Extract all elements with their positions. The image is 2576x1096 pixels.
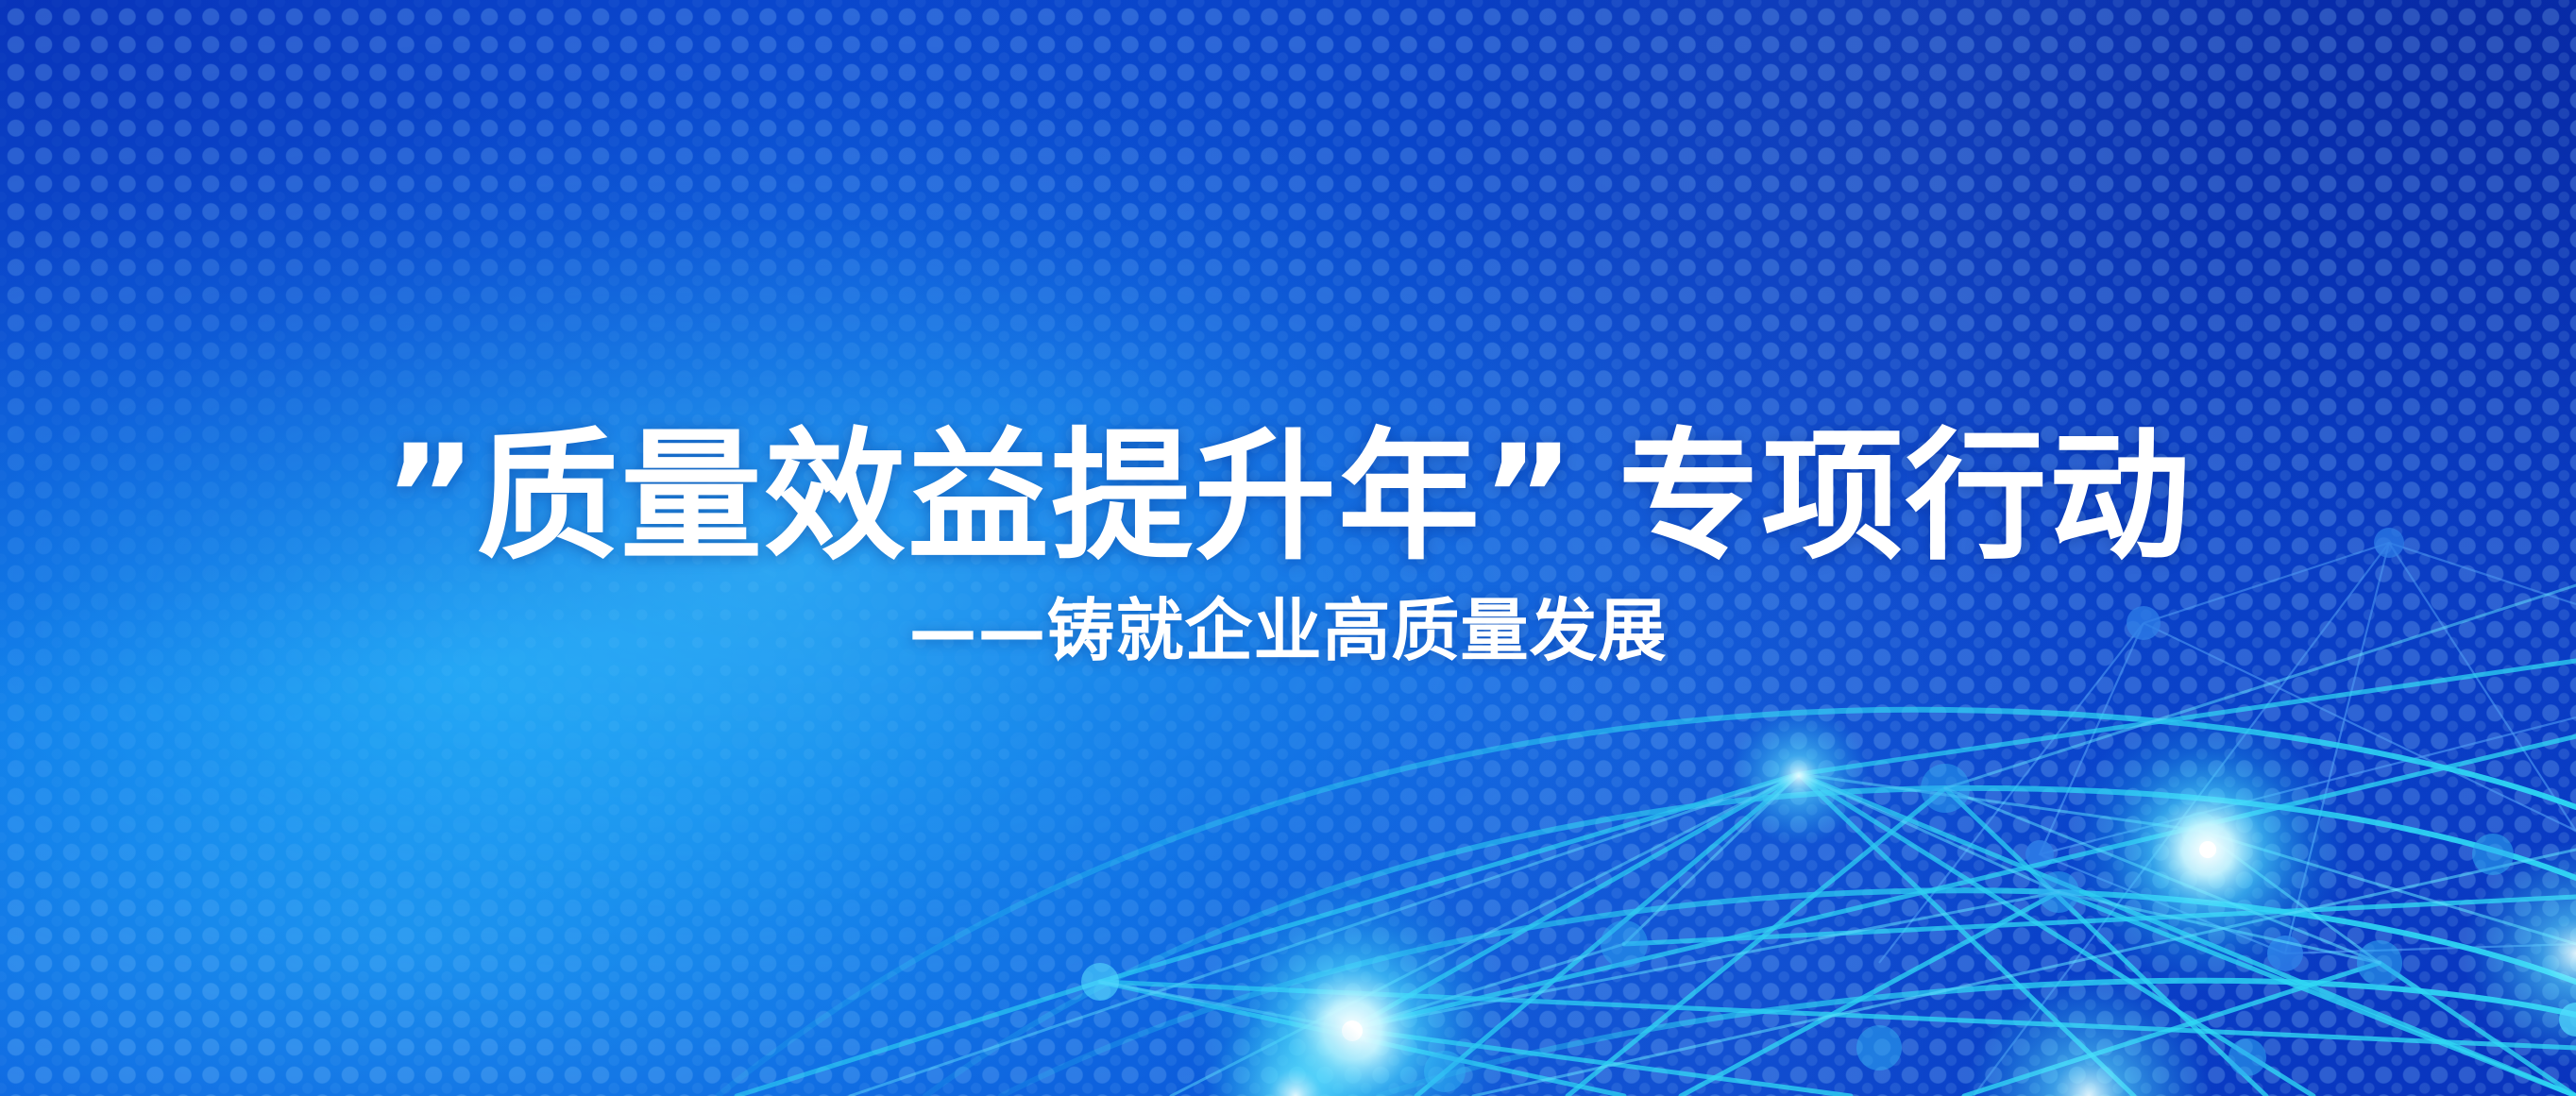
background-bottomright-shade <box>0 0 2576 1096</box>
background-topright-shade <box>0 0 2576 1096</box>
globe-mesh-lines <box>718 585 2576 1096</box>
network-node-flares <box>1192 706 2576 1096</box>
halftone-dot-grid-fine-icon <box>0 0 2576 1096</box>
lower-left-glow-icon <box>0 0 2576 1096</box>
banner-text-block: ”质量效益提升年”专项行动 ——铸就企业高质量发展 <box>0 427 2576 665</box>
center-glow-icon <box>0 0 2576 1096</box>
upper-right-constellation-nodes <box>2025 528 2404 971</box>
banner-subtitle: ——铸就企业高质量发展 <box>0 597 2576 665</box>
banner-canvas: ”质量效益提升年”专项行动 ——铸就企业高质量发展 <box>0 0 2576 1096</box>
subtitle-text: 铸就企业高质量发展 <box>1046 591 1667 670</box>
globe-network-mesh-icon <box>0 0 2576 1096</box>
headline-open-quote: ” <box>383 415 477 580</box>
halftone-dot-grid-icon <box>0 0 2576 1096</box>
globe-mesh-nodes <box>1081 764 2576 1092</box>
headline-main-text: 质量效益提升年 <box>477 415 1482 580</box>
upper-right-constellation <box>1879 543 2576 1096</box>
headline-close-quote: ” <box>1482 415 1575 580</box>
subtitle-dash: —— <box>908 591 1046 670</box>
headline-suffix-text: 专项行动 <box>1618 415 2193 580</box>
background-topleft-shade <box>0 0 2576 1096</box>
diagonal-sheen-icon <box>0 0 2576 1096</box>
banner-headline: ”质量效益提升年”专项行动 <box>0 427 2576 568</box>
background-base-gradient <box>0 0 2576 1096</box>
